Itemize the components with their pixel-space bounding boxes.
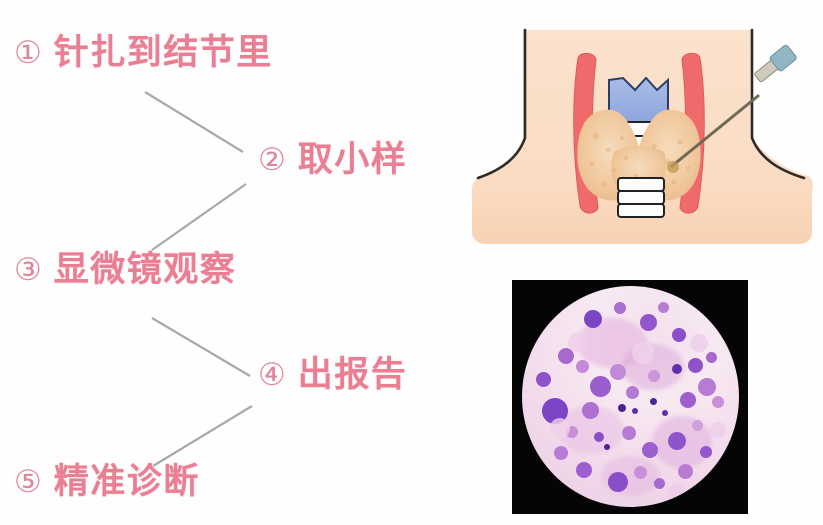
flow-step-5: ⑤ 精准诊断 [14, 465, 200, 500]
infographic-root: ① 针扎到结节里 ② 取小样 ③ 显微镜观察 ④ 出报告 ⑤ 精准诊断 [0, 0, 823, 525]
step-3-number: ③ [14, 255, 42, 286]
step-flow: ① 针扎到结节里 ② 取小样 ③ 显微镜观察 ④ 出报告 ⑤ 精准诊断 [0, 0, 500, 525]
flow-step-1: ① 针扎到结节里 [14, 36, 273, 71]
step-1-number: ① [14, 38, 42, 69]
connector-3-4 [152, 318, 250, 376]
step-1-label: 针扎到结节里 [54, 36, 273, 71]
step-2-number: ② [258, 145, 286, 176]
step-5-label: 精准诊断 [54, 465, 200, 500]
connector-2-3 [152, 184, 246, 250]
flow-step-4: ④ 出报告 [258, 358, 407, 393]
microscope-image [512, 280, 748, 514]
flow-step-3: ③ 显微镜观察 [14, 253, 236, 288]
step-5-number: ⑤ [14, 467, 42, 498]
connector-1-2 [145, 92, 243, 152]
step-4-label: 出报告 [298, 358, 408, 393]
step-2-label: 取小样 [298, 143, 408, 178]
connector-4-5 [153, 406, 252, 466]
flow-step-2: ② 取小样 [258, 143, 407, 178]
thyroid-biopsy-illustration [468, 18, 816, 250]
trachea-lower [618, 178, 664, 217]
microscope-field [522, 286, 739, 507]
step-3-label: 显微镜观察 [54, 253, 237, 288]
step-4-number: ④ [258, 360, 286, 391]
